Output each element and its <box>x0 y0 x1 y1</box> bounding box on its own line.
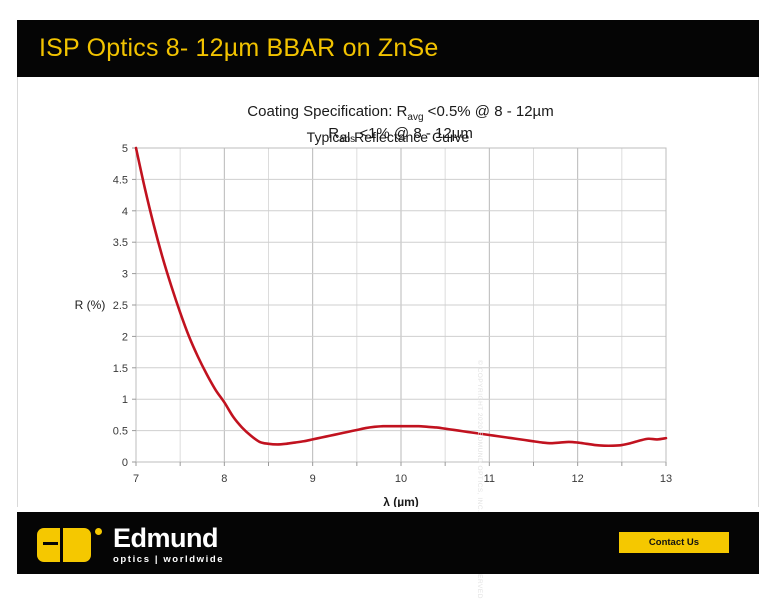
x-tick-label: 8 <box>221 473 227 485</box>
x-tick-label: 7 <box>133 473 139 485</box>
logo-wordmark: Edmund optics | worldwide <box>113 525 224 565</box>
y-tick-label: 2 <box>122 331 128 343</box>
x-tick-label: 10 <box>395 473 407 485</box>
y-axis-title: R (%) <box>75 298 106 312</box>
edmund-optics-logo[interactable]: Edmund optics | worldwide <box>37 525 224 565</box>
eo-logo-dot-icon <box>95 528 102 535</box>
y-tick-label: 0 <box>122 457 128 469</box>
page-title: ISP Optics 8- 12µm BBAR on ZnSe <box>17 34 438 63</box>
y-tick-label: 1 <box>122 394 128 406</box>
slide-root: ISP Optics 8- 12µm BBAR on ZnSe Coating … <box>0 0 776 600</box>
x-tick-label: 11 <box>484 473 495 485</box>
y-tick-label: 2.5 <box>113 300 128 312</box>
reflectance-chart: 00.511.522.533.544.5578910111213 R (%)λ … <box>18 77 760 507</box>
chart-gridlines <box>136 148 666 462</box>
y-tick-label: 0.5 <box>113 426 128 438</box>
y-tick-label: 3 <box>122 269 128 281</box>
x-axis-title: λ (µm) <box>383 495 419 507</box>
y-tick-label: 4.5 <box>113 174 128 186</box>
y-tick-label: 4 <box>122 206 128 218</box>
content-panel: Coating Specification: Ravg <0.5% @ 8 - … <box>17 77 759 507</box>
logo-tagline: optics | worldwide <box>113 555 224 565</box>
x-tick-label: 12 <box>572 473 584 485</box>
contact-us-button[interactable]: Contact Us <box>619 532 729 553</box>
header-bar: ISP Optics 8- 12µm BBAR on ZnSe <box>17 20 759 77</box>
x-tick-label: 9 <box>310 473 316 485</box>
y-tick-label: 3.5 <box>113 237 128 249</box>
y-tick-label: 5 <box>122 143 128 155</box>
y-tick-label: 1.5 <box>113 363 128 375</box>
chart-svg: 00.511.522.533.544.5578910111213 R (%)λ … <box>18 77 760 507</box>
eo-logo-icon <box>37 528 91 562</box>
x-tick-label: 13 <box>660 473 672 485</box>
footer-bar: Edmund optics | worldwide Contact Us <box>17 512 759 574</box>
logo-name: Edmund <box>113 525 224 552</box>
